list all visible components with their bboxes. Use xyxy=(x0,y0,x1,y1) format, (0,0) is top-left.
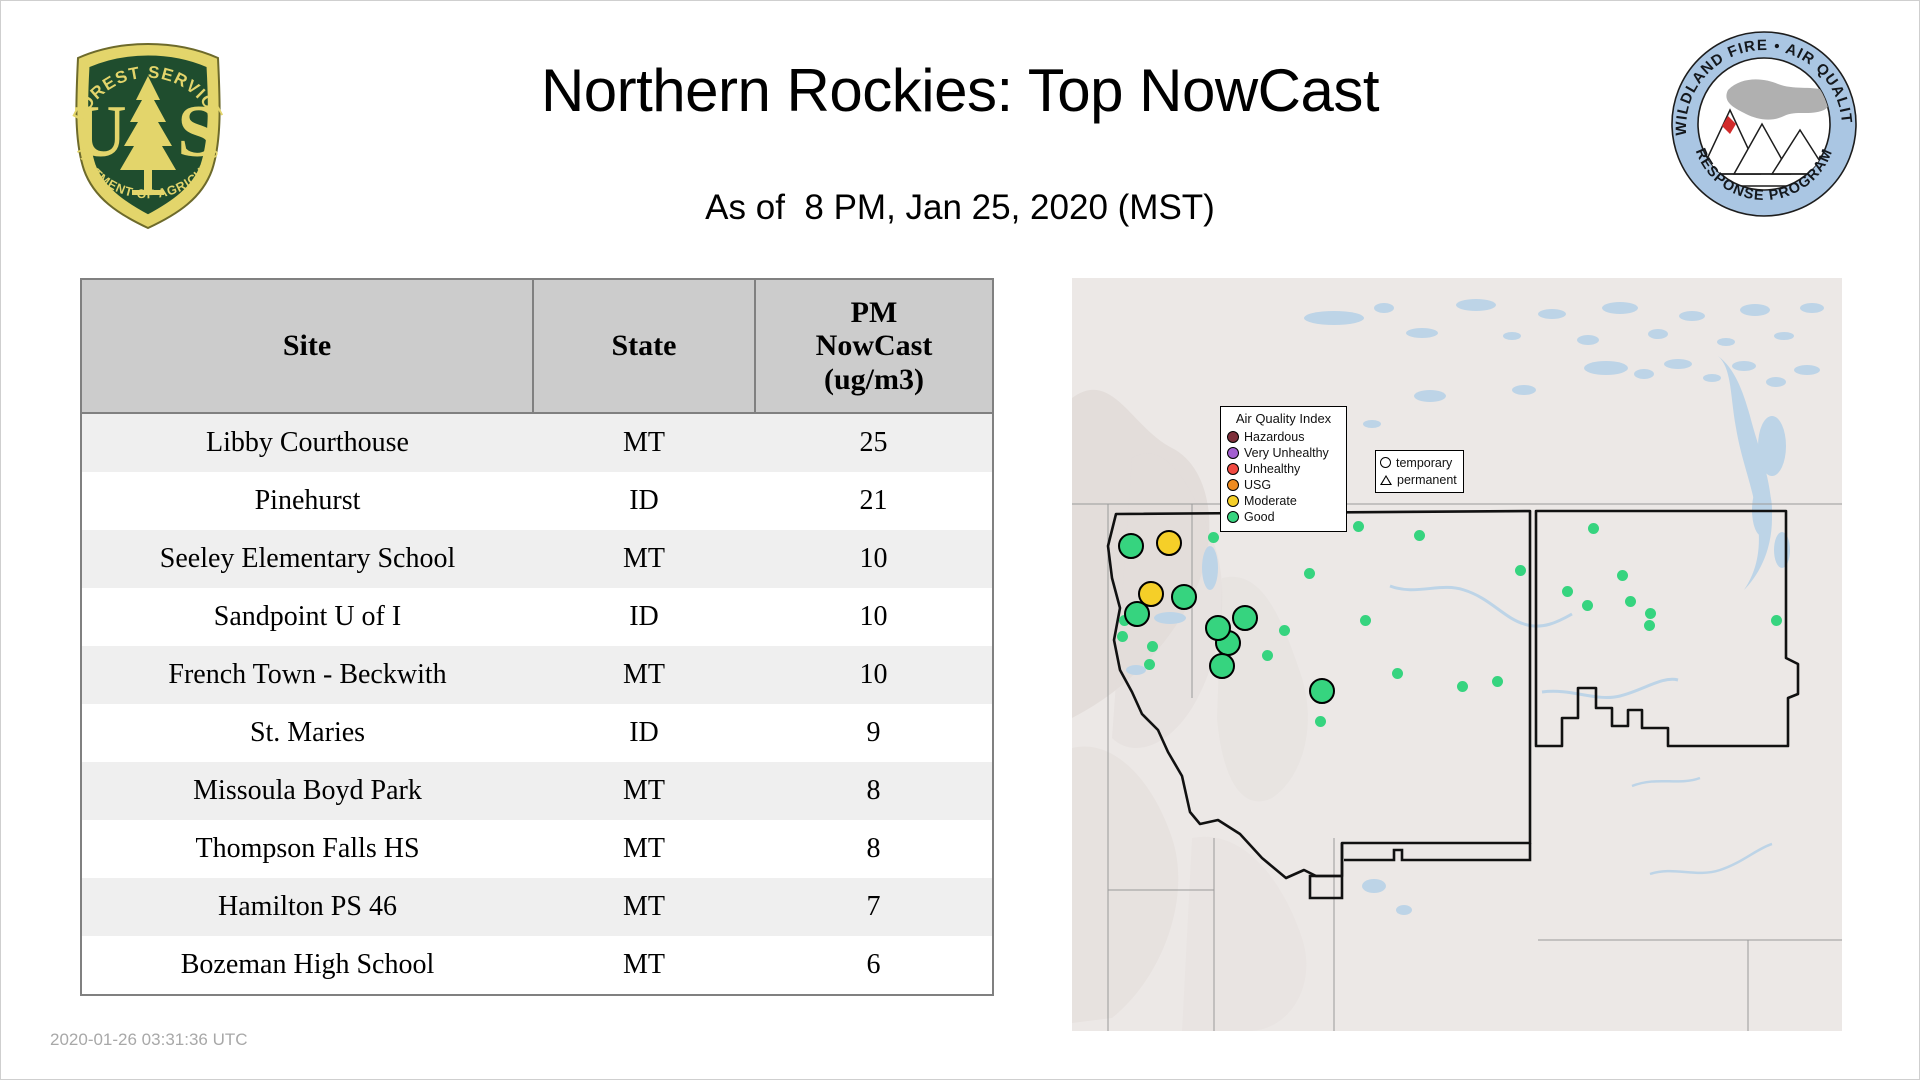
cell-state: MT xyxy=(533,646,755,704)
column-header-pm-nowcast: PM NowCast (ug/m3) xyxy=(755,279,993,413)
monitor-dot[interactable] xyxy=(1771,615,1782,626)
top-site-dot[interactable] xyxy=(1156,530,1182,556)
monitor-dot[interactable] xyxy=(1144,659,1155,670)
aqi-label-good: Good xyxy=(1244,510,1275,525)
generated-timestamp: 2020-01-26 03:31:36 UTC xyxy=(50,1030,248,1050)
map-state-boundaries xyxy=(1072,278,1842,1031)
site-type-legend-item-permanent: permanent xyxy=(1380,471,1457,488)
aqi-label-moderate: Moderate xyxy=(1244,494,1297,509)
cell-site: St. Maries xyxy=(81,704,533,762)
cell-site: Libby Courthouse xyxy=(81,413,533,472)
cell-pm: 6 xyxy=(755,936,993,995)
aqi-swatch-hazardous xyxy=(1227,431,1239,443)
top-site-dot[interactable] xyxy=(1209,653,1235,679)
cell-pm: 25 xyxy=(755,413,993,472)
monitor-dot[interactable] xyxy=(1315,716,1326,727)
cell-site: Hamilton PS 46 xyxy=(81,878,533,936)
column-header-pm-line3: (ug/m3) xyxy=(760,363,988,397)
cell-pm: 10 xyxy=(755,530,993,588)
monitor-dot[interactable] xyxy=(1625,596,1636,607)
cell-pm: 8 xyxy=(755,762,993,820)
aqi-legend-item-moderate: Moderate xyxy=(1227,493,1340,509)
cell-state: ID xyxy=(533,588,755,646)
aqi-legend-title: Air Quality Index xyxy=(1227,411,1340,426)
aqi-label-hazardous: Hazardous xyxy=(1244,430,1304,445)
monitor-dot[interactable] xyxy=(1262,650,1273,661)
aqi-label-very-unhealthy: Very Unhealthy xyxy=(1244,446,1329,461)
monitor-dot[interactable] xyxy=(1208,532,1219,543)
table-row: Libby Courthouse MT 25 xyxy=(81,413,993,472)
cell-site: French Town - Beckwith xyxy=(81,646,533,704)
column-header-pm-line1: PM xyxy=(760,296,988,330)
cell-site: Thompson Falls HS xyxy=(81,820,533,878)
top-site-dot[interactable] xyxy=(1309,678,1335,704)
table-row: St. Maries ID 9 xyxy=(81,704,993,762)
cell-pm: 10 xyxy=(755,588,993,646)
page-subtitle: As of 8 PM, Jan 25, 2020 (MST) xyxy=(0,188,1920,228)
triangle-icon xyxy=(1380,475,1392,485)
monitor-dot[interactable] xyxy=(1492,676,1503,687)
site-type-label-temporary: temporary xyxy=(1396,456,1452,470)
aqi-legend-item-hazardous: Hazardous xyxy=(1227,429,1340,445)
monitor-dot[interactable] xyxy=(1414,530,1425,541)
monitor-dot[interactable] xyxy=(1353,521,1364,532)
monitor-dot[interactable] xyxy=(1392,668,1403,679)
aqi-legend-item-usg: USG xyxy=(1227,477,1340,493)
monitor-dot[interactable] xyxy=(1147,641,1158,652)
cell-state: MT xyxy=(533,413,755,472)
aqi-swatch-usg xyxy=(1227,479,1239,491)
monitor-dot[interactable] xyxy=(1582,600,1593,611)
monitor-dot[interactable] xyxy=(1562,586,1573,597)
cell-state: MT xyxy=(533,530,755,588)
aqi-swatch-moderate xyxy=(1227,495,1239,507)
aqi-legend: Air Quality Index Hazardous Very Unhealt… xyxy=(1220,406,1347,532)
aqi-legend-item-very-unhealthy: Very Unhealthy xyxy=(1227,445,1340,461)
aqi-legend-item-unhealthy: Unhealthy xyxy=(1227,461,1340,477)
top-site-dot[interactable] xyxy=(1171,584,1197,610)
monitor-dot[interactable] xyxy=(1360,615,1371,626)
table-row: French Town - Beckwith MT 10 xyxy=(81,646,993,704)
cell-state: ID xyxy=(533,704,755,762)
table-body: Libby Courthouse MT 25 Pinehurst ID 21 S… xyxy=(81,413,993,995)
column-header-site: Site xyxy=(81,279,533,413)
table-row: Bozeman High School MT 6 xyxy=(81,936,993,995)
monitor-dot[interactable] xyxy=(1645,608,1656,619)
aqi-legend-item-good: Good xyxy=(1227,509,1340,525)
monitor-dot[interactable] xyxy=(1117,631,1128,642)
cell-site: Seeley Elementary School xyxy=(81,530,533,588)
cell-pm: 7 xyxy=(755,878,993,936)
cell-state: MT xyxy=(533,762,755,820)
cell-pm: 10 xyxy=(755,646,993,704)
top-nowcast-table-container: Site State PM NowCast (ug/m3) Libby Cour… xyxy=(80,278,992,996)
cell-site: Pinehurst xyxy=(81,472,533,530)
table-row: Thompson Falls HS MT 8 xyxy=(81,820,993,878)
cell-state: MT xyxy=(533,936,755,995)
aqi-label-unhealthy: Unhealthy xyxy=(1244,462,1300,477)
table-row: Sandpoint U of I ID 10 xyxy=(81,588,993,646)
aqi-swatch-good xyxy=(1227,511,1239,523)
cell-state: MT xyxy=(533,878,755,936)
cell-pm: 21 xyxy=(755,472,993,530)
table-row: Hamilton PS 46 MT 7 xyxy=(81,878,993,936)
cell-pm: 9 xyxy=(755,704,993,762)
monitor-dot[interactable] xyxy=(1515,565,1526,576)
aqi-swatch-very-unhealthy xyxy=(1227,447,1239,459)
monitor-dot[interactable] xyxy=(1644,620,1655,631)
cell-pm: 8 xyxy=(755,820,993,878)
site-type-label-permanent: permanent xyxy=(1397,473,1457,487)
circle-icon xyxy=(1380,457,1391,468)
monitor-dot[interactable] xyxy=(1457,681,1468,692)
column-header-state: State xyxy=(533,279,755,413)
air-quality-map[interactable]: Air Quality Index Hazardous Very Unhealt… xyxy=(1072,278,1842,1031)
page-title: Northern Rockies: Top NowCast xyxy=(0,58,1920,124)
cell-state: ID xyxy=(533,472,755,530)
cell-site: Missoula Boyd Park xyxy=(81,762,533,820)
site-type-legend-item-temporary: temporary xyxy=(1380,454,1457,471)
table-row: Pinehurst ID 21 xyxy=(81,472,993,530)
top-nowcast-table: Site State PM NowCast (ug/m3) Libby Cour… xyxy=(80,278,994,996)
cell-site: Sandpoint U of I xyxy=(81,588,533,646)
monitor-dot[interactable] xyxy=(1617,570,1628,581)
aqi-swatch-unhealthy xyxy=(1227,463,1239,475)
top-site-dot[interactable] xyxy=(1118,533,1144,559)
top-site-dot[interactable] xyxy=(1138,581,1164,607)
table-header-row: Site State PM NowCast (ug/m3) xyxy=(81,279,993,413)
column-header-pm-line2: NowCast xyxy=(760,329,988,363)
cell-site: Bozeman High School xyxy=(81,936,533,995)
site-type-legend: temporary permanent xyxy=(1375,450,1464,493)
monitor-dot[interactable] xyxy=(1279,625,1290,636)
top-site-dot[interactable] xyxy=(1205,615,1231,641)
table-row: Missoula Boyd Park MT 8 xyxy=(81,762,993,820)
aqi-label-usg: USG xyxy=(1244,478,1271,493)
table-row: Seeley Elementary School MT 10 xyxy=(81,530,993,588)
monitor-dot[interactable] xyxy=(1304,568,1315,579)
cell-state: MT xyxy=(533,820,755,878)
top-site-dot[interactable] xyxy=(1232,605,1258,631)
monitor-dot[interactable] xyxy=(1588,523,1599,534)
